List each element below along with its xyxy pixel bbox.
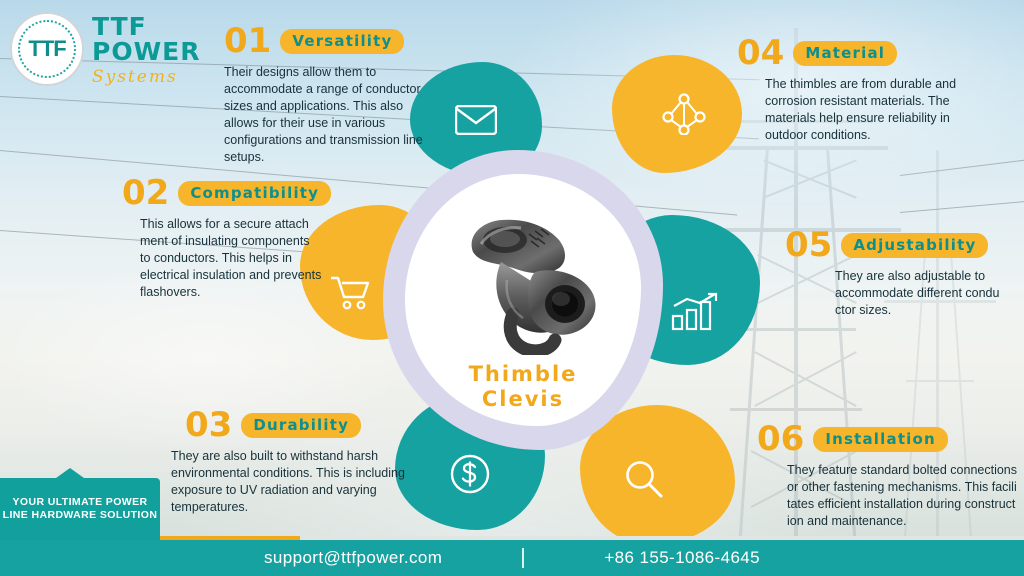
bar-chart-growth-icon — [670, 292, 718, 332]
feature-number: 03 — [185, 408, 232, 442]
feature-number: 02 — [122, 176, 169, 210]
product-name-line1: Thimble — [383, 362, 663, 387]
feature-title: Compatibility — [178, 181, 331, 206]
contact-footer: support@ttfpower.com +86 155-1086-4645 — [0, 540, 1024, 576]
brand-logo[interactable]: TTF TTF POWER Systems — [6, 8, 221, 88]
ttf-monogram-inner: TTF — [18, 20, 76, 78]
product-name-line2: Clevis — [383, 387, 663, 412]
thimble-clevis-image — [443, 210, 613, 355]
feature-title: Versatility — [280, 29, 404, 54]
contact-phone[interactable]: +86 155-1086-4645 — [604, 548, 760, 568]
envelope-icon — [455, 105, 497, 135]
product-name: Thimble Clevis — [383, 362, 663, 412]
feature-text: They are also adjustable to accommodate … — [835, 268, 1013, 319]
feature-text: They are also built to withstand harsh e… — [171, 448, 411, 516]
feature-title: Installation — [813, 427, 948, 452]
shopping-cart-icon — [329, 275, 373, 311]
network-nodes-icon — [662, 93, 706, 135]
feature-item-03: 03 Durability They are also built to wit… — [185, 408, 415, 516]
brand-logo-text: TTF POWER Systems — [92, 14, 200, 87]
feature-item-05: 05 Adjustability They are also adjustabl… — [785, 228, 1024, 319]
feature-number: 04 — [737, 36, 784, 70]
magnifier-icon — [623, 458, 665, 500]
brand-title: TTF POWER — [92, 14, 200, 64]
center-product-panel: Thimble Clevis — [383, 150, 663, 450]
feature-text: This allows for a secure attach ment of … — [140, 216, 322, 301]
feature-text: Their designs allow them to accommodate … — [224, 64, 429, 166]
brand-subtitle: Systems — [92, 67, 200, 87]
brand-title-line1: TTF — [92, 14, 200, 39]
ttf-monogram-icon: TTF — [10, 12, 84, 86]
tagline-badge: YOUR ULTIMATE POWER LINE HARDWARE SOLUTI… — [0, 478, 160, 540]
power-wire — [900, 159, 1024, 176]
feature-text: The thimbles are from durable and corros… — [765, 76, 971, 144]
feature-number: 06 — [757, 422, 804, 456]
feature-title: Material — [793, 41, 897, 66]
contact-email[interactable]: support@ttfpower.com — [264, 548, 442, 568]
power-wire — [900, 201, 1024, 213]
feature-title: Durability — [241, 413, 361, 438]
feature-item-04: 04 Material The thimbles are from durabl… — [737, 36, 952, 144]
dollar-coin-icon — [449, 453, 491, 495]
feature-item-01: 01 Versatility Their designs allow them … — [224, 24, 439, 166]
feature-number: 01 — [224, 24, 271, 58]
feature-number: 05 — [785, 228, 832, 262]
feature-text: They feature standard bolted connections… — [787, 462, 1022, 530]
footer-divider — [522, 548, 524, 568]
feature-item-06: 06 Installation They feature standard bo… — [757, 422, 1019, 530]
feature-item-02: 02 Compatibility This allows for a secur… — [122, 176, 332, 301]
brand-title-line2: POWER — [92, 39, 200, 64]
feature-title: Adjustability — [841, 233, 988, 258]
